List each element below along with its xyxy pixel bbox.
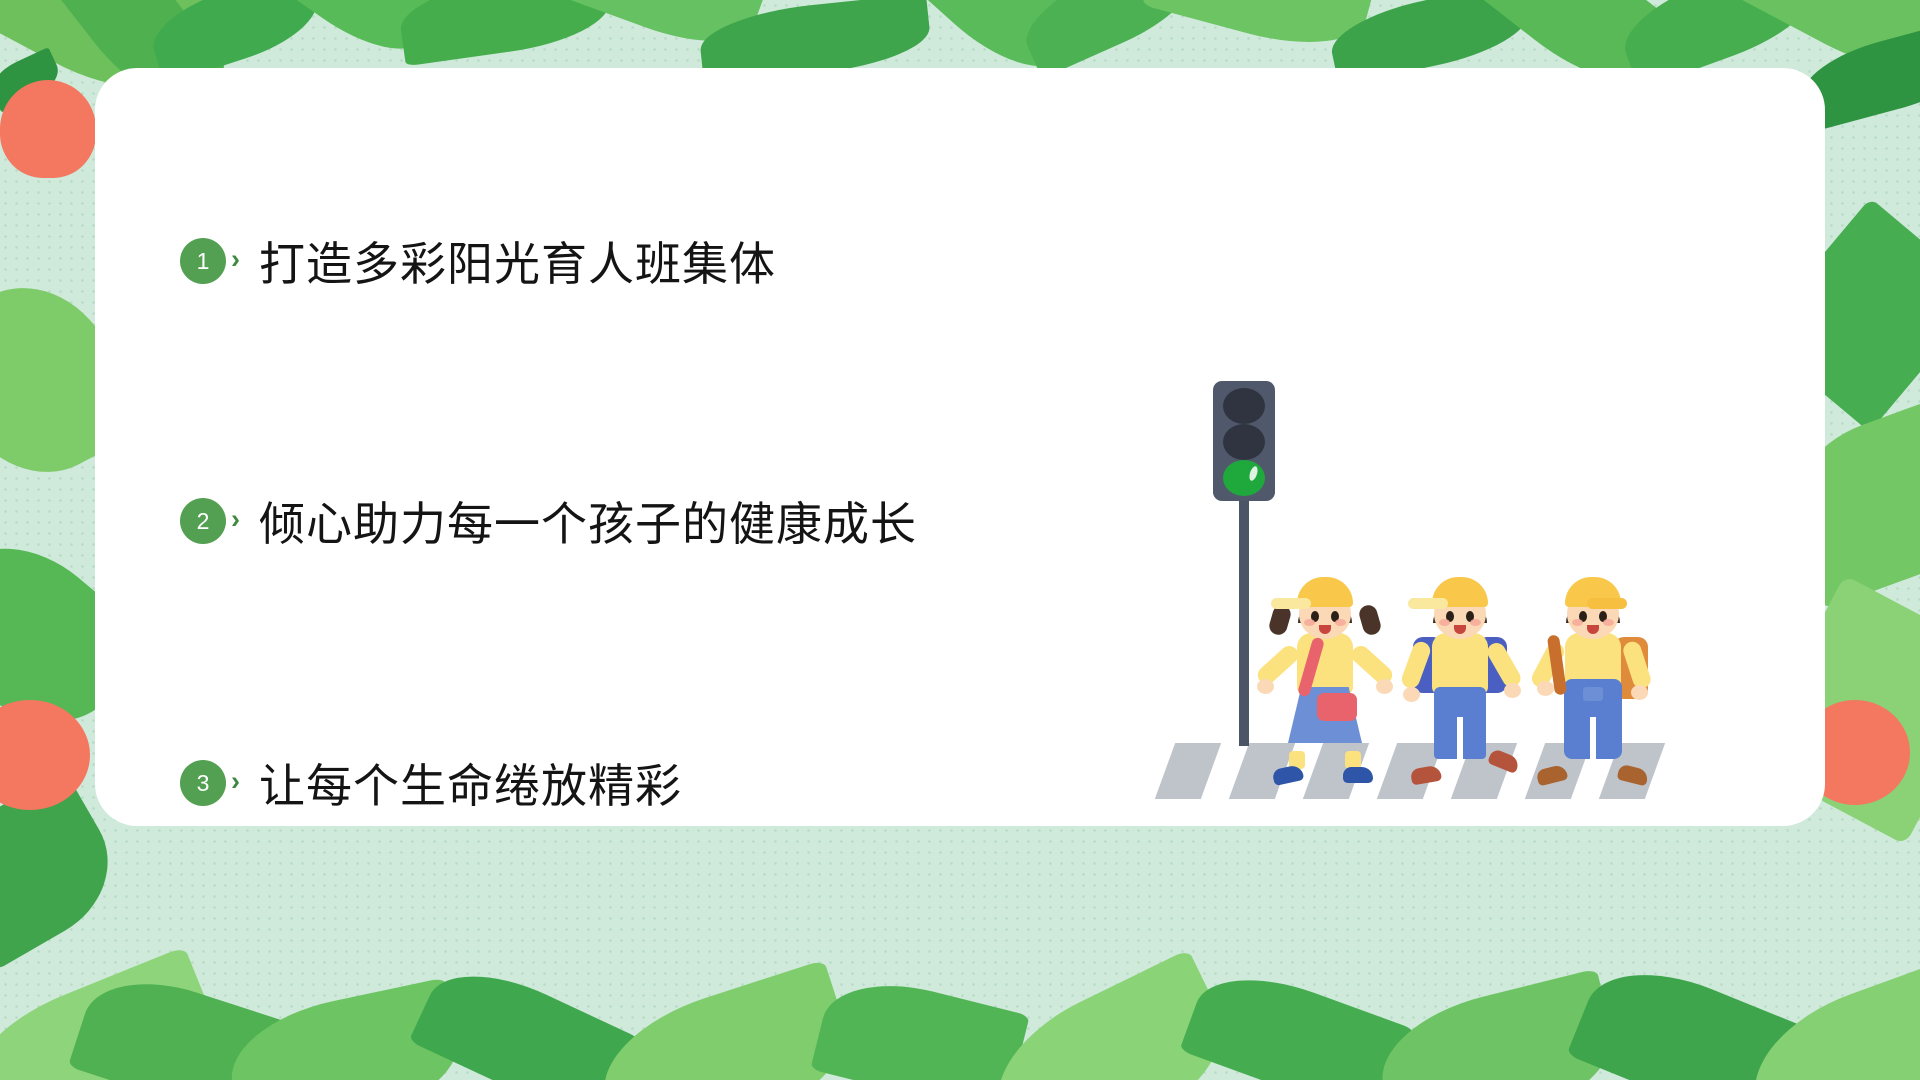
satchel	[1317, 693, 1357, 721]
traffic-light-pole	[1239, 471, 1249, 746]
bullet-number-badge: 1	[180, 238, 226, 284]
lamp-highlight	[1248, 465, 1259, 481]
bottom-leaf-band	[0, 910, 1920, 1080]
content-card: 1 › 打造多彩阳光育人班集体 2 › 倾心助力每一个孩子的健康成长 3 › 让…	[95, 68, 1825, 826]
bullet-text: 打造多彩阳光育人班集体	[259, 228, 776, 294]
hand	[1504, 683, 1521, 698]
yellow-lamp-icon	[1223, 424, 1265, 460]
red-lamp-icon	[1223, 388, 1265, 424]
bullet-list: 1 › 打造多彩阳光育人班集体 2 › 倾心助力每一个孩子的健康成长 3 › 让…	[180, 163, 1280, 813]
overalls	[1564, 679, 1622, 759]
yellow-cap	[1432, 577, 1488, 607]
bullet-number-badge: 2	[180, 498, 226, 544]
bullet-text: 倾心助力每一个孩子的健康成长	[259, 488, 917, 554]
chevron-right-icon: ›	[231, 768, 240, 795]
pants	[1434, 687, 1486, 759]
yellow-cap	[1565, 577, 1621, 607]
shirt	[1432, 633, 1488, 695]
traffic-light-housing	[1213, 381, 1275, 501]
bullet-text: 让每个生命绻放精彩	[259, 750, 682, 816]
presentation-slide: 1 › 打造多彩阳光育人班集体 2 › 倾心助力每一个孩子的健康成长 3 › 让…	[0, 0, 1920, 1080]
chevron-right-icon: ›	[231, 506, 240, 533]
child-boy-blue-backpack	[1405, 575, 1515, 775]
pigtail	[1357, 603, 1383, 637]
bullet-number-badge: 3	[180, 760, 226, 806]
flower-decoration	[0, 80, 96, 178]
children-crossing-illustration	[1155, 371, 1715, 821]
list-item[interactable]: 3 › 让每个生命绻放精彩	[180, 753, 1280, 813]
child-boy-orange-backpack	[1535, 575, 1650, 775]
hand	[1537, 681, 1554, 696]
hand	[1631, 685, 1648, 700]
list-item[interactable]: 2 › 倾心助力每一个孩子的健康成长	[180, 491, 1280, 551]
hand	[1257, 679, 1274, 694]
shoe	[1343, 767, 1373, 783]
leaf-decoration	[396, 0, 614, 66]
chevron-right-icon: ›	[231, 246, 240, 273]
child-girl-pigtails	[1265, 575, 1385, 775]
green-lamp-icon	[1223, 460, 1265, 496]
hand	[1403, 687, 1420, 702]
yellow-cap	[1297, 577, 1353, 607]
hand	[1376, 679, 1393, 694]
list-item[interactable]: 1 › 打造多彩阳光育人班集体	[180, 231, 1280, 291]
